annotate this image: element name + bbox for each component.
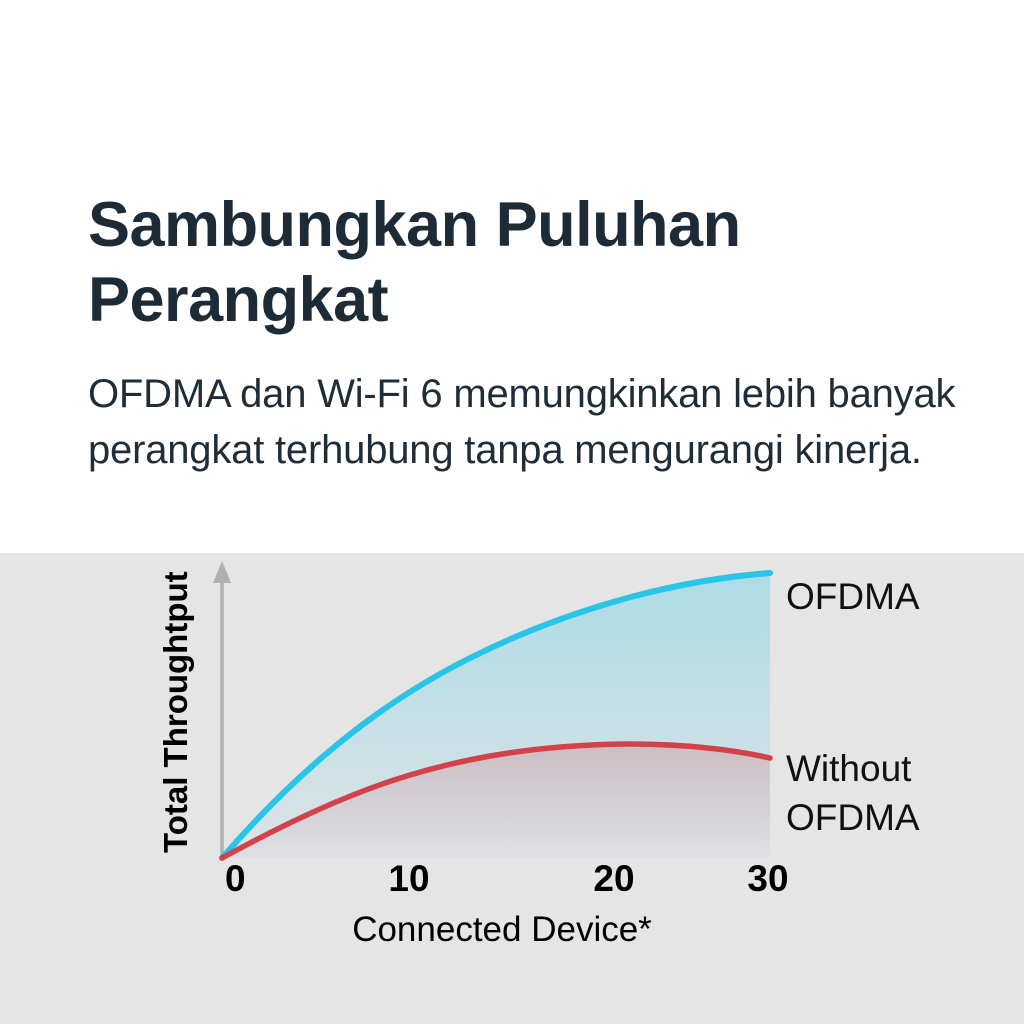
page-subtitle: OFDMA dan Wi-Fi 6 memungkinkan lebih ban…	[88, 366, 988, 478]
x-tick-label-10: 10	[388, 858, 429, 899]
x-tick-label-0: 0	[225, 858, 246, 899]
copy-section: Sambungkan Puluhan Perangkat OFDMA dan W…	[0, 0, 1024, 553]
series-label-ofdma: OFDMA	[786, 576, 920, 617]
x-tick-label-30: 30	[747, 858, 788, 899]
chart-section: Total Throughtput 0 10 20 30 Connected D…	[0, 553, 1024, 1024]
promo-page: Sambungkan Puluhan Perangkat OFDMA dan W…	[0, 0, 1024, 1024]
throughput-line-chart: Total Throughtput 0 10 20 30 Connected D…	[0, 553, 1024, 1024]
series-label-without-ofdma-line1: Without	[786, 748, 912, 789]
x-tick-label-20: 20	[593, 858, 634, 899]
x-axis-title: Connected Device*	[352, 910, 652, 949]
series-label-without-ofdma-line2: OFDMA	[786, 797, 920, 838]
page-title: Sambungkan Puluhan Perangkat	[88, 188, 928, 338]
y-axis-title: Total Throughtput	[157, 571, 194, 853]
